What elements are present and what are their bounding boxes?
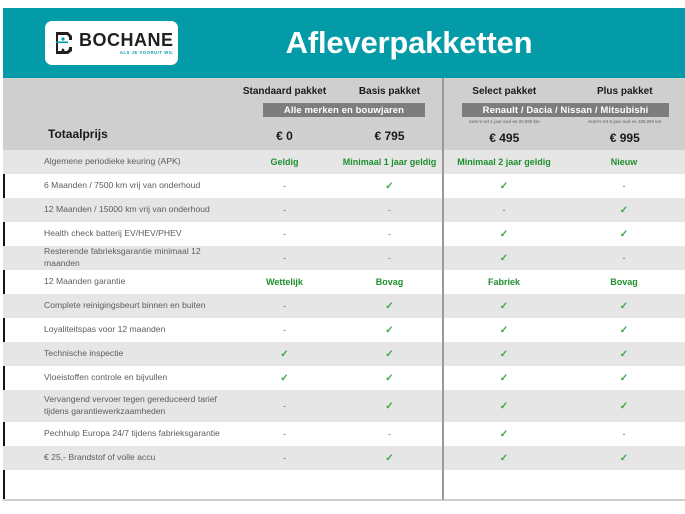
cell-col2: -	[337, 229, 442, 239]
row-label: Resterende fabrieksgarantie minimaal 12 …	[3, 246, 232, 269]
cell-col3: Minimaal 2 jaar geldig	[444, 157, 564, 167]
group-right-badge: Renault / Dacia / Nissan / Mitsubishi	[462, 103, 669, 117]
cell-col2: ✓	[337, 349, 442, 360]
check-icon: ✓	[620, 325, 628, 336]
dash-icon: -	[388, 205, 391, 215]
cell-col4: ✓	[564, 301, 684, 312]
price-select: € 495	[444, 131, 565, 145]
cell-col3: ✓	[444, 401, 564, 412]
cell-text: Minimaal 1 jaar geldig	[343, 157, 437, 167]
check-icon: ✓	[500, 301, 508, 312]
table-row: 12 Maanden / 15000 km vrij van onderhoud…	[3, 198, 685, 222]
check-icon: ✓	[620, 205, 628, 216]
dash-icon: -	[388, 253, 391, 263]
logo-wordmark: BOCHANE	[79, 31, 174, 49]
cell-col1: -	[232, 229, 337, 239]
table-row: 6 Maanden / 7500 km vrij van onderhoud-✓…	[3, 174, 685, 198]
check-icon: ✓	[620, 373, 628, 384]
dash-icon: -	[388, 429, 391, 439]
check-icon: ✓	[385, 453, 393, 464]
row-label: € 25,- Brandstof of volle accu	[3, 452, 232, 464]
cell-col4: ✓	[564, 401, 684, 412]
row-label: Loyaliteitspas voor 12 maanden	[3, 324, 232, 336]
cell-col4: ✓	[564, 325, 684, 336]
cell-col4: -	[564, 429, 684, 439]
package-name-plus: Plus pakket	[565, 86, 685, 97]
check-icon: ✓	[620, 401, 628, 412]
table-row: Health check batterij EV/HEV/PHEV--✓✓	[3, 222, 685, 246]
row-label: Vloeistoffen controle en bijvullen	[3, 372, 232, 384]
check-icon: ✓	[385, 325, 393, 336]
cell-col2: ✓	[337, 325, 442, 336]
cell-col4: ✓	[564, 349, 684, 360]
cell-col3: ✓	[444, 301, 564, 312]
table-row: Pechhulp Europa 24/7 tijdens fabrieksgar…	[3, 422, 685, 446]
check-icon: ✓	[500, 373, 508, 384]
dash-icon: -	[283, 253, 286, 263]
dash-icon: -	[283, 453, 286, 463]
cell-col2: ✓	[337, 453, 442, 464]
cell-col3: ✓	[444, 373, 564, 384]
row-label: Vervangend vervoer tegen gereduceerd tar…	[3, 394, 232, 417]
dash-icon: -	[283, 429, 286, 439]
check-icon: ✓	[280, 373, 288, 384]
left-edge-rule	[3, 474, 5, 500]
cell-col4: ✓	[564, 453, 684, 464]
cell-text: Fabriek	[488, 277, 520, 287]
column-header-block: Totaalprijs Standaard pakket Basis pakke…	[3, 78, 685, 150]
table-row: Vervangend vervoer tegen gereduceerd tar…	[3, 390, 685, 422]
note-plus: Auto's tot 5 jaar oud en 100.000 km	[565, 119, 685, 124]
table-footer-spacer	[3, 470, 685, 484]
cell-col3: ✓	[444, 325, 564, 336]
check-icon: ✓	[385, 301, 393, 312]
package-name-select: Select pakket	[444, 86, 565, 97]
cell-text: Bovag	[376, 277, 404, 287]
cell-col1: -	[232, 325, 337, 335]
table-row: Technische inspectie✓✓✓✓	[3, 342, 685, 366]
row-label: Complete reinigingsbeurt binnen en buite…	[3, 300, 232, 312]
cell-text: Minimaal 2 jaar geldig	[457, 157, 551, 167]
cell-col3: ✓	[444, 181, 564, 192]
table-bottom-edge	[3, 499, 685, 501]
feature-comparison-table: Algemene periodieke keuring (APK)GeldigM…	[3, 150, 685, 484]
cell-col2: Minimaal 1 jaar geldig	[337, 157, 442, 167]
check-icon: ✓	[500, 325, 508, 336]
group-left-badge: Alle merken en bouwjaren	[263, 103, 425, 117]
page-header: Afleverpakketten BOCHANE ALS JE VOORUIT …	[3, 8, 685, 78]
table-row: Resterende fabrieksgarantie minimaal 12 …	[3, 246, 685, 270]
row-label: Pechhulp Europa 24/7 tijdens fabrieksgar…	[3, 428, 232, 440]
price-plus: € 995	[565, 131, 685, 145]
check-icon: ✓	[500, 401, 508, 412]
cell-col4: ✓	[564, 205, 684, 216]
package-group-left: Standaard pakket Basis pakket Alle merke…	[3, 78, 442, 150]
check-icon: ✓	[385, 181, 393, 192]
table-row: € 25,- Brandstof of volle accu-✓✓✓	[3, 446, 685, 470]
price-standaard: € 0	[232, 129, 337, 143]
cell-text: Bovag	[610, 277, 638, 287]
note-select: Auto's tot 1 jaar oud en 20.000 km	[444, 119, 565, 124]
cell-col4: ✓	[564, 229, 684, 240]
check-icon: ✓	[385, 373, 393, 384]
cell-col2: ✓	[337, 181, 442, 192]
cell-col3: ✓	[444, 349, 564, 360]
package-group-right: Select pakket Plus pakket Renault / Daci…	[444, 78, 685, 150]
check-icon: ✓	[500, 349, 508, 360]
package-name-basis: Basis pakket	[337, 86, 442, 97]
dash-icon: -	[283, 181, 286, 191]
dash-icon: -	[283, 325, 286, 335]
cell-col1: Geldig	[232, 157, 337, 167]
table-row: Vloeistoffen controle en bijvullen✓✓✓✓	[3, 366, 685, 390]
row-label: Algemene periodieke keuring (APK)	[3, 156, 232, 168]
cell-col3: ✓	[444, 229, 564, 240]
check-icon: ✓	[620, 229, 628, 240]
cell-col2: ✓	[337, 373, 442, 384]
cell-col4: -	[564, 253, 684, 263]
cell-col2: Bovag	[337, 277, 442, 287]
check-icon: ✓	[620, 453, 628, 464]
cell-col1: ✓	[232, 373, 337, 384]
group-divider	[442, 78, 444, 500]
cell-col1: -	[232, 181, 337, 191]
cell-col1: Wettelijk	[232, 277, 337, 287]
cell-col2: -	[337, 253, 442, 263]
dash-icon: -	[283, 205, 286, 215]
cell-col2: -	[337, 205, 442, 215]
row-label: Technische inspectie	[3, 348, 232, 360]
row-label: 12 Maanden garantie	[3, 276, 232, 288]
cell-col3: ✓	[444, 429, 564, 440]
table-row: Loyaliteitspas voor 12 maanden-✓✓✓	[3, 318, 685, 342]
cell-col4: Nieuw	[564, 157, 684, 167]
check-icon: ✓	[385, 401, 393, 412]
cell-col3: ✓	[444, 453, 564, 464]
price-basis: € 795	[337, 129, 442, 143]
cell-text: Geldig	[270, 157, 298, 167]
row-label: 12 Maanden / 15000 km vrij van onderhoud	[3, 204, 232, 216]
check-icon: ✓	[280, 349, 288, 360]
check-icon: ✓	[620, 349, 628, 360]
cell-col1: -	[232, 205, 337, 215]
dash-icon: -	[283, 401, 286, 411]
cell-col1: -	[232, 429, 337, 439]
check-icon: ✓	[500, 253, 508, 264]
cell-col3: ✓	[444, 253, 564, 264]
check-icon: ✓	[500, 229, 508, 240]
dash-icon: -	[623, 429, 626, 439]
dash-icon: -	[623, 181, 626, 191]
cell-text: Wettelijk	[266, 277, 303, 287]
check-icon: ✓	[500, 453, 508, 464]
cell-col3: -	[444, 205, 564, 215]
cell-col1: -	[232, 253, 337, 263]
cell-col1: -	[232, 301, 337, 311]
check-icon: ✓	[620, 301, 628, 312]
logo-tagline: ALS JE VOORUIT WIL	[79, 51, 174, 55]
dash-icon: -	[283, 229, 286, 239]
cell-col3: Fabriek	[444, 277, 564, 287]
cell-col1: -	[232, 401, 337, 411]
dash-icon: -	[503, 205, 506, 215]
afleverpakketten-page: Afleverpakketten BOCHANE ALS JE VOORUIT …	[0, 0, 685, 514]
cell-col4: Bovag	[564, 277, 684, 287]
dash-icon: -	[283, 301, 286, 311]
check-icon: ✓	[500, 181, 508, 192]
cell-col1: ✓	[232, 349, 337, 360]
row-label: 6 Maanden / 7500 km vrij van onderhoud	[3, 180, 232, 192]
check-icon: ✓	[385, 349, 393, 360]
dash-icon: -	[388, 229, 391, 239]
table-row: 12 Maanden garantieWettelijkBovagFabriek…	[3, 270, 685, 294]
cell-col2: ✓	[337, 301, 442, 312]
cell-col2: ✓	[337, 401, 442, 412]
bochane-mark-icon	[54, 30, 74, 56]
table-row: Complete reinigingsbeurt binnen en buite…	[3, 294, 685, 318]
cell-col1: -	[232, 453, 337, 463]
dash-icon: -	[623, 253, 626, 263]
cell-text: Nieuw	[611, 157, 638, 167]
package-name-standaard: Standaard pakket	[232, 86, 337, 97]
table-row: Algemene periodieke keuring (APK)GeldigM…	[3, 150, 685, 174]
cell-col4: -	[564, 181, 684, 191]
cell-col2: -	[337, 429, 442, 439]
row-label: Health check batterij EV/HEV/PHEV	[3, 228, 232, 240]
bochane-logo: BOCHANE ALS JE VOORUIT WIL	[45, 21, 178, 65]
check-icon: ✓	[500, 429, 508, 440]
cell-col4: ✓	[564, 373, 684, 384]
